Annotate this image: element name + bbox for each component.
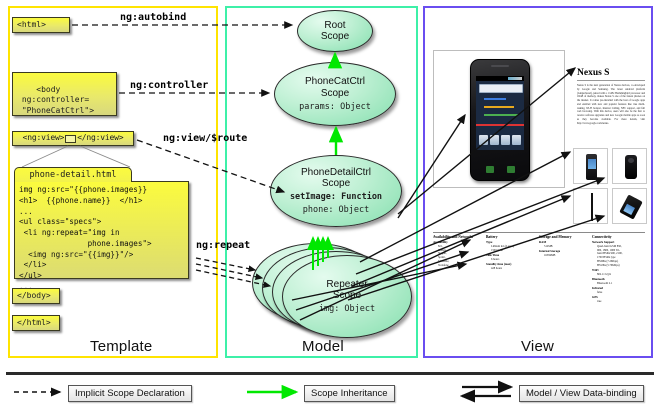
body-open-tag-label: <body ng:controller= "PhoneCatCtrl"> <box>17 85 94 114</box>
html-open-tag-label: <html> <box>17 20 46 30</box>
spec-value: 1500 mAh <box>486 249 537 253</box>
html-close-tag-label: </html> <box>17 318 51 328</box>
angular-scope-diagram: <html> <body ng:controller= "PhoneCatCtr… <box>0 0 660 420</box>
spec-column-availability: Availability and Networks Availability M… <box>433 235 486 304</box>
spec-value: 802.11 b/g/n <box>592 273 643 277</box>
arrow-label-ng-repeat: ng:repeat <box>196 240 250 251</box>
html-open-tag-box: <html> <box>12 17 70 33</box>
phone-wallpaper-line-4 <box>476 124 524 126</box>
phone-app-icon <box>479 135 488 145</box>
phone-app-icon <box>501 135 510 145</box>
spec-heading: Availability and Networks <box>433 235 484 239</box>
panel-label-model: Model <box>302 338 344 355</box>
panel-label-view: View <box>521 338 554 355</box>
phone-softkey <box>486 166 494 173</box>
spec-value: Vodafone <box>433 264 484 268</box>
phone-app-icon <box>490 135 499 145</box>
view-spec-table: Availability and Networks Availability M… <box>433 235 645 304</box>
phone-softkey <box>507 166 515 173</box>
html-close-tag-box: </html> <box>12 315 60 331</box>
view-title-divider <box>577 80 645 81</box>
spec-column-battery: Battery Type Lithium Ion (Li-Ion) 1500 m… <box>486 235 539 304</box>
scope-repeater-title-2: Scope <box>333 290 361 301</box>
spec-value: 428 hours <box>486 267 537 271</box>
phone-angle-thumb[interactable] <box>612 188 647 224</box>
scope-root: Root Scope <box>297 10 373 52</box>
ngview-tag-box: <ng:view> </ng:view> <box>12 131 134 146</box>
phone-app-icon-row <box>479 135 521 147</box>
scope-root-title-1: Root <box>324 20 345 31</box>
body-open-tag-box: <body ng:controller= "PhoneCatCtrl"> <box>12 72 117 116</box>
scope-phonedetailctrl-title-2: Scope <box>322 178 350 189</box>
scope-phonecatctrl: PhoneCatCtrl Scope params: Object <box>274 62 396 126</box>
scope-phonedetailctrl-prop-setimage: setImage: Function <box>290 192 382 202</box>
scope-phonedetailctrl: PhoneDetailCtrl Scope setImage: Function… <box>270 155 402 227</box>
scope-root-title-2: Scope <box>321 31 349 42</box>
phone-detail-code: img ng:src="{{phone.images}} <h1> {{phon… <box>14 181 189 279</box>
scope-repeater-title-1: Repeater <box>326 279 367 290</box>
spec-value: false <box>592 291 643 295</box>
arrow-label-ng-controller: ng:controller <box>130 80 208 91</box>
legend-item-scope-inheritance: Scope Inheritance <box>304 385 395 402</box>
ngview-close-label: </ng:view> <box>77 133 123 143</box>
spec-value: 512MB <box>539 245 590 249</box>
spec-value: HSUPA (5.76Mbps) <box>592 264 643 268</box>
phone-large-image-frame <box>433 50 565 188</box>
spec-heading: Storage and Memory <box>539 235 590 239</box>
phone-side-thumb[interactable] <box>573 188 608 224</box>
phone-wallpaper-line-3 <box>484 114 518 116</box>
body-close-tag-box: </body> <box>12 288 60 304</box>
spec-heading: Connectivity <box>592 235 643 239</box>
phone-screen <box>476 76 524 150</box>
scope-phonedetailctrl-title-1: PhoneDetailCtrl <box>301 167 371 178</box>
view-thumbnail-grid <box>573 148 647 224</box>
spec-column-storage: Storage and Memory RAM 512MB Internal St… <box>539 235 592 304</box>
spec-value: 6 hours <box>486 258 537 262</box>
arrow-label-ng-autobind: ng:autobind <box>120 12 186 23</box>
phone-wallpaper-line-1 <box>484 98 506 100</box>
scope-phonedetailctrl-prop-phone: phone: Object <box>303 205 370 215</box>
scope-repeater-prop-img: img: Object <box>319 304 375 314</box>
phone-front-thumb[interactable] <box>573 148 608 184</box>
phone-earpiece <box>491 65 509 67</box>
phone-softkey-row <box>479 165 521 174</box>
phone-wallpaper-line-2 <box>484 106 514 108</box>
phone-search-widget <box>479 84 523 93</box>
spec-value: Bluetooth 2.1 <box>592 282 643 286</box>
spec-heading: Battery <box>486 235 537 239</box>
spec-value: true <box>592 300 643 304</box>
ngview-open-label: <ng:view> <box>23 133 65 143</box>
scope-phonecatctrl-prop-params: params: Object <box>299 102 371 112</box>
arrow-label-ng-view-route: ng:view/$route <box>163 133 247 144</box>
phone-app-icon <box>512 135 521 145</box>
legend-item-model-view-data-binding: Model / View Data-binding <box>519 385 644 402</box>
phone-statusbar <box>476 76 524 81</box>
legend-divider <box>6 372 654 375</box>
body-close-tag-label: </body> <box>17 291 51 301</box>
scope-repeater-stack: Repeater Scope img: Object <box>252 243 412 338</box>
spec-value: 16384MB <box>539 254 590 258</box>
view-product-title: Nexus S <box>577 68 609 78</box>
view-specs-divider <box>433 232 645 233</box>
scope-repeater: Repeater Scope img: Object <box>282 255 412 338</box>
scope-phonecatctrl-title-2: Scope <box>321 88 349 99</box>
legend-item-implicit-scope-declaration: Implicit Scope Declaration <box>68 385 192 402</box>
phone-detail-filename: phone-detail.html <box>14 167 132 182</box>
view-rendered-page: Nexus S Nexus S is the next generation o… <box>431 14 645 334</box>
phone-detail-callout: phone-detail.html img ng:src="{{phone.im… <box>14 167 189 279</box>
phone-back-thumb[interactable] <box>612 148 647 184</box>
ngview-slot-placeholder <box>65 135 76 143</box>
view-product-description: Nexus S is the next generation of Nexus … <box>577 84 645 125</box>
spec-column-connectivity: Connectivity Network Support Quad-band G… <box>592 235 645 304</box>
phone-device-illustration <box>470 59 530 181</box>
panel-label-template: Template <box>90 338 152 355</box>
scope-phonecatctrl-title-1: PhoneCatCtrl <box>305 76 365 87</box>
